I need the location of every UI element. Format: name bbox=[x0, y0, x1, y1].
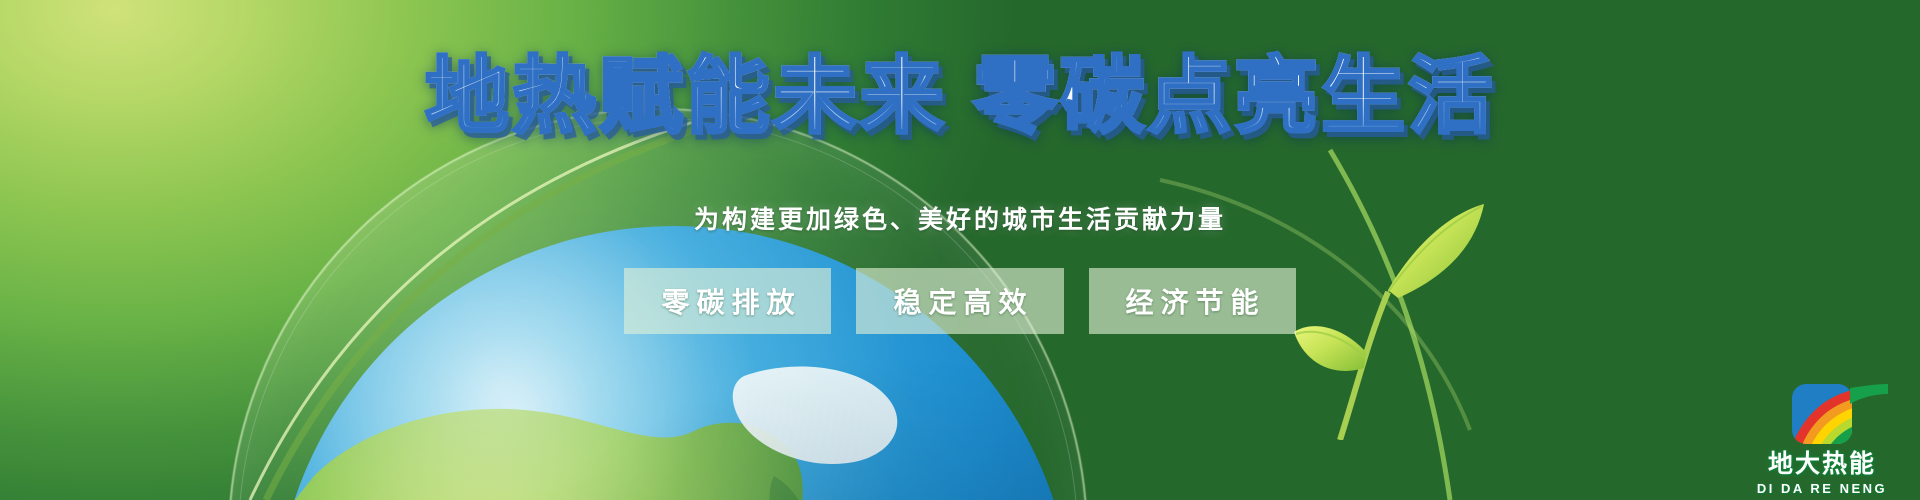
status-badge[interactable]: 稳定高效 bbox=[856, 268, 1063, 334]
banner-subtitle: 为构建更加绿色、美好的城市生活贡献力量 bbox=[0, 200, 1920, 236]
hero-banner: 地热赋能未来 零碳点亮生活 地热赋能未来 零碳点亮生活 为构建更加绿色、美好的城… bbox=[0, 0, 1920, 500]
logo-name-en: DI DA RE NENG bbox=[1746, 481, 1898, 496]
brand-logo[interactable]: 地大热能 DI DA RE NENG bbox=[1746, 382, 1898, 494]
feature-badge-list: 零碳排放 稳定高效 经济节能 bbox=[0, 268, 1920, 334]
status-badge[interactable]: 零碳排放 bbox=[624, 268, 831, 334]
banner-title-wrapper: 地热赋能未来 零碳点亮生活 地热赋能未来 零碳点亮生活 bbox=[0, 52, 1920, 140]
page-title: 地热赋能未来 零碳点亮生活 bbox=[425, 52, 1495, 140]
logo-name-cn: 地大热能 bbox=[1746, 444, 1898, 480]
rainbow-swoosh-square-icon bbox=[1746, 382, 1898, 446]
status-badge[interactable]: 经济节能 bbox=[1089, 268, 1296, 334]
